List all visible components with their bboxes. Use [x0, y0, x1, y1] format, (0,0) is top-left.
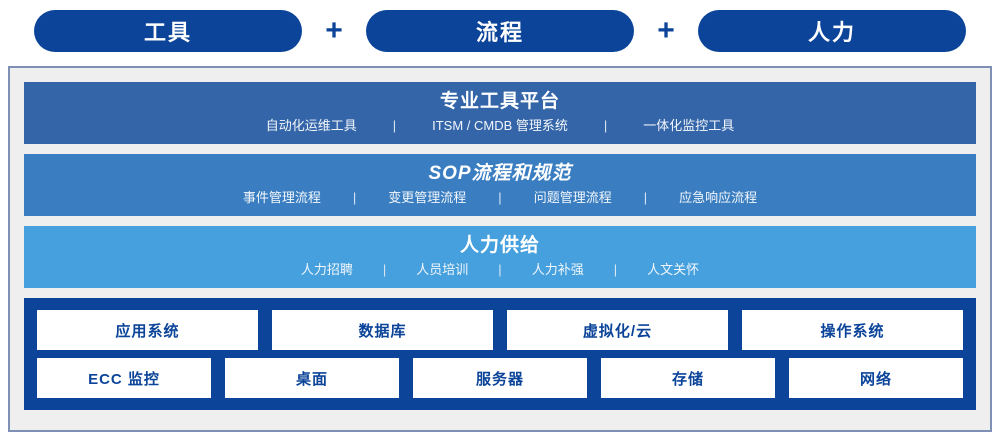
band-tools-separator-2: | — [602, 115, 609, 137]
band-sop-separator-1: | — [351, 187, 358, 209]
band-sop-item-3[interactable]: 问题管理流程 — [534, 187, 612, 209]
plus-icon-2: + — [634, 16, 698, 46]
pill-tools-label: 工具 — [144, 15, 192, 47]
band-people-item-3[interactable]: 人力补强 — [532, 259, 584, 281]
object-box-network[interactable]: 网络 — [789, 358, 963, 398]
object-box-desktop[interactable]: 桌面 — [225, 358, 399, 398]
band-tools-separator-1: | — [391, 115, 398, 137]
object-box-virtualization-cloud[interactable]: 虚拟化/云 — [507, 310, 728, 350]
managed-object-panel: 应用系统 数据库 虚拟化/云 操作系统 ECC 监控 桌面 服务器 存储 网络 — [24, 298, 976, 410]
band-sop-item-4[interactable]: 应急响应流程 — [679, 187, 757, 209]
top-pill-row: 工具 + 流程 + 人力 — [0, 0, 1000, 62]
band-sop-items: 事件管理流程 | 变更管理流程 | 问题管理流程 | 应急响应流程 — [24, 187, 976, 209]
pill-process[interactable]: 流程 — [366, 10, 634, 52]
object-box-database[interactable]: 数据库 — [272, 310, 493, 350]
band-sop-separator-2: | — [496, 187, 503, 209]
diagram-frame: 专业工具平台 自动化运维工具 | ITSM / CMDB 管理系统 | 一体化监… — [8, 66, 992, 432]
band-people-separator-3: | — [612, 259, 619, 281]
band-tools-item-1[interactable]: 自动化运维工具 — [266, 115, 357, 137]
band-professional-tool-platform: 专业工具平台 自动化运维工具 | ITSM / CMDB 管理系统 | 一体化监… — [24, 82, 976, 144]
plus-icon-1: + — [302, 16, 366, 46]
object-box-server[interactable]: 服务器 — [413, 358, 587, 398]
band-sop-separator-3: | — [642, 187, 649, 209]
object-box-storage[interactable]: 存储 — [601, 358, 775, 398]
band-tools-items: 自动化运维工具 | ITSM / CMDB 管理系统 | 一体化监控工具 — [24, 115, 976, 137]
band-people-separator-1: | — [381, 259, 388, 281]
pill-tools[interactable]: 工具 — [34, 10, 302, 52]
capability-diagram: 工具 + 流程 + 人力 专业工具平台 自动化运维工具 | ITSM / CMD… — [0, 0, 1000, 442]
band-tools-item-3[interactable]: 一体化监控工具 — [643, 115, 734, 137]
object-box-application-system[interactable]: 应用系统 — [37, 310, 258, 350]
band-people-items: 人力招聘 | 人员培训 | 人力补强 | 人文关怀 — [24, 259, 976, 281]
pill-manpower-label: 人力 — [808, 15, 856, 47]
pill-process-label: 流程 — [476, 15, 524, 47]
band-sop-process-and-standards: SOP流程和规范 事件管理流程 | 变更管理流程 | 问题管理流程 | 应急响应… — [24, 154, 976, 216]
object-row-2: ECC 监控 桌面 服务器 存储 网络 — [37, 358, 963, 398]
object-box-operating-system[interactable]: 操作系统 — [742, 310, 963, 350]
band-people-item-2[interactable]: 人员培训 — [416, 259, 468, 281]
pill-manpower[interactable]: 人力 — [698, 10, 966, 52]
band-people-item-4[interactable]: 人文关怀 — [647, 259, 699, 281]
band-tools-item-2[interactable]: ITSM / CMDB 管理系统 — [432, 115, 568, 137]
band-sop-item-2[interactable]: 变更管理流程 — [388, 187, 466, 209]
object-row-1: 应用系统 数据库 虚拟化/云 操作系统 — [37, 310, 963, 350]
band-people-title: 人力供给 — [24, 233, 976, 259]
band-people-item-1[interactable]: 人力招聘 — [301, 259, 353, 281]
band-manpower-supply: 人力供给 人力招聘 | 人员培训 | 人力补强 | 人文关怀 — [24, 226, 976, 288]
band-people-separator-2: | — [496, 259, 503, 281]
object-box-ecc-monitoring[interactable]: ECC 监控 — [37, 358, 211, 398]
band-sop-item-1[interactable]: 事件管理流程 — [243, 187, 321, 209]
band-sop-title: SOP流程和规范 — [24, 161, 976, 187]
band-tools-title: 专业工具平台 — [24, 89, 976, 115]
